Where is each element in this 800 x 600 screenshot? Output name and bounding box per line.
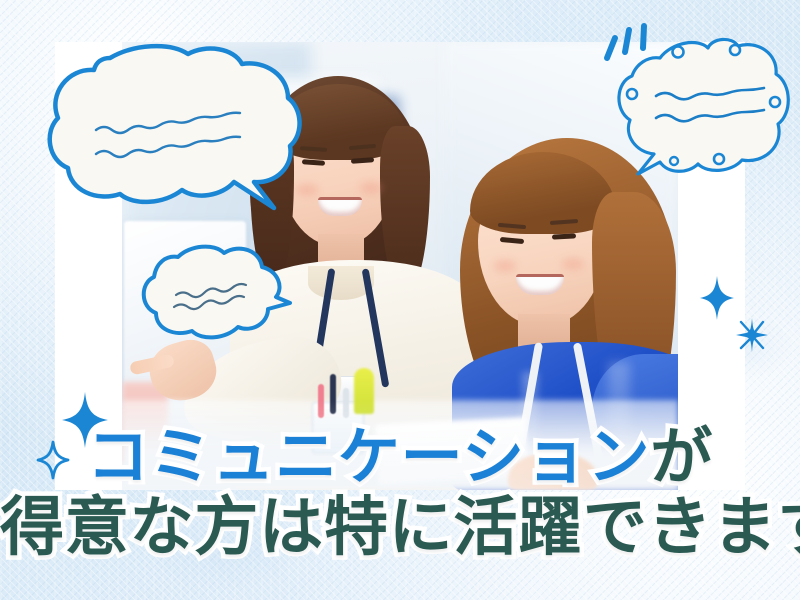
bubble-loop-5 [670, 157, 678, 165]
sparkle-4-point-filled [700, 276, 734, 320]
sparkle-right-large-icon [700, 276, 734, 320]
headline-line-2: 得意な方は特に活躍できます! [0, 495, 800, 559]
bubble-loop-6 [714, 154, 724, 164]
headline-line-1-tail: が [650, 423, 713, 492]
speech-bubble-top-right [612, 28, 794, 188]
bubble-outline-top-right [619, 39, 788, 174]
photo-woman-a-cheek-right [360, 182, 382, 194]
bubble-loop-1 [673, 47, 684, 58]
bubble-outline-top-left [50, 46, 300, 208]
photo-woman-b-cheek-right [562, 258, 584, 270]
sparkle-right-burst-icon [736, 318, 768, 352]
headline-line-1-main: コミュニケーション [87, 423, 650, 492]
bubble-loop-2 [730, 45, 740, 55]
bubble-outline-middle [144, 247, 290, 338]
bubble-loop-3 [627, 89, 637, 99]
speech-bubble-top-left [38, 42, 306, 214]
headline-line-1: コミュニケーションが [0, 427, 800, 489]
photo-woman-b-cheek-left [494, 260, 516, 272]
headline-text: コミュニケーションが 得意な方は特に活躍できます! [0, 427, 800, 559]
speech-bubble-middle [138, 243, 290, 345]
bubble-loop-4 [770, 97, 780, 107]
promo-banner: コミュニケーションが 得意な方は特に活躍できます! [0, 0, 800, 600]
